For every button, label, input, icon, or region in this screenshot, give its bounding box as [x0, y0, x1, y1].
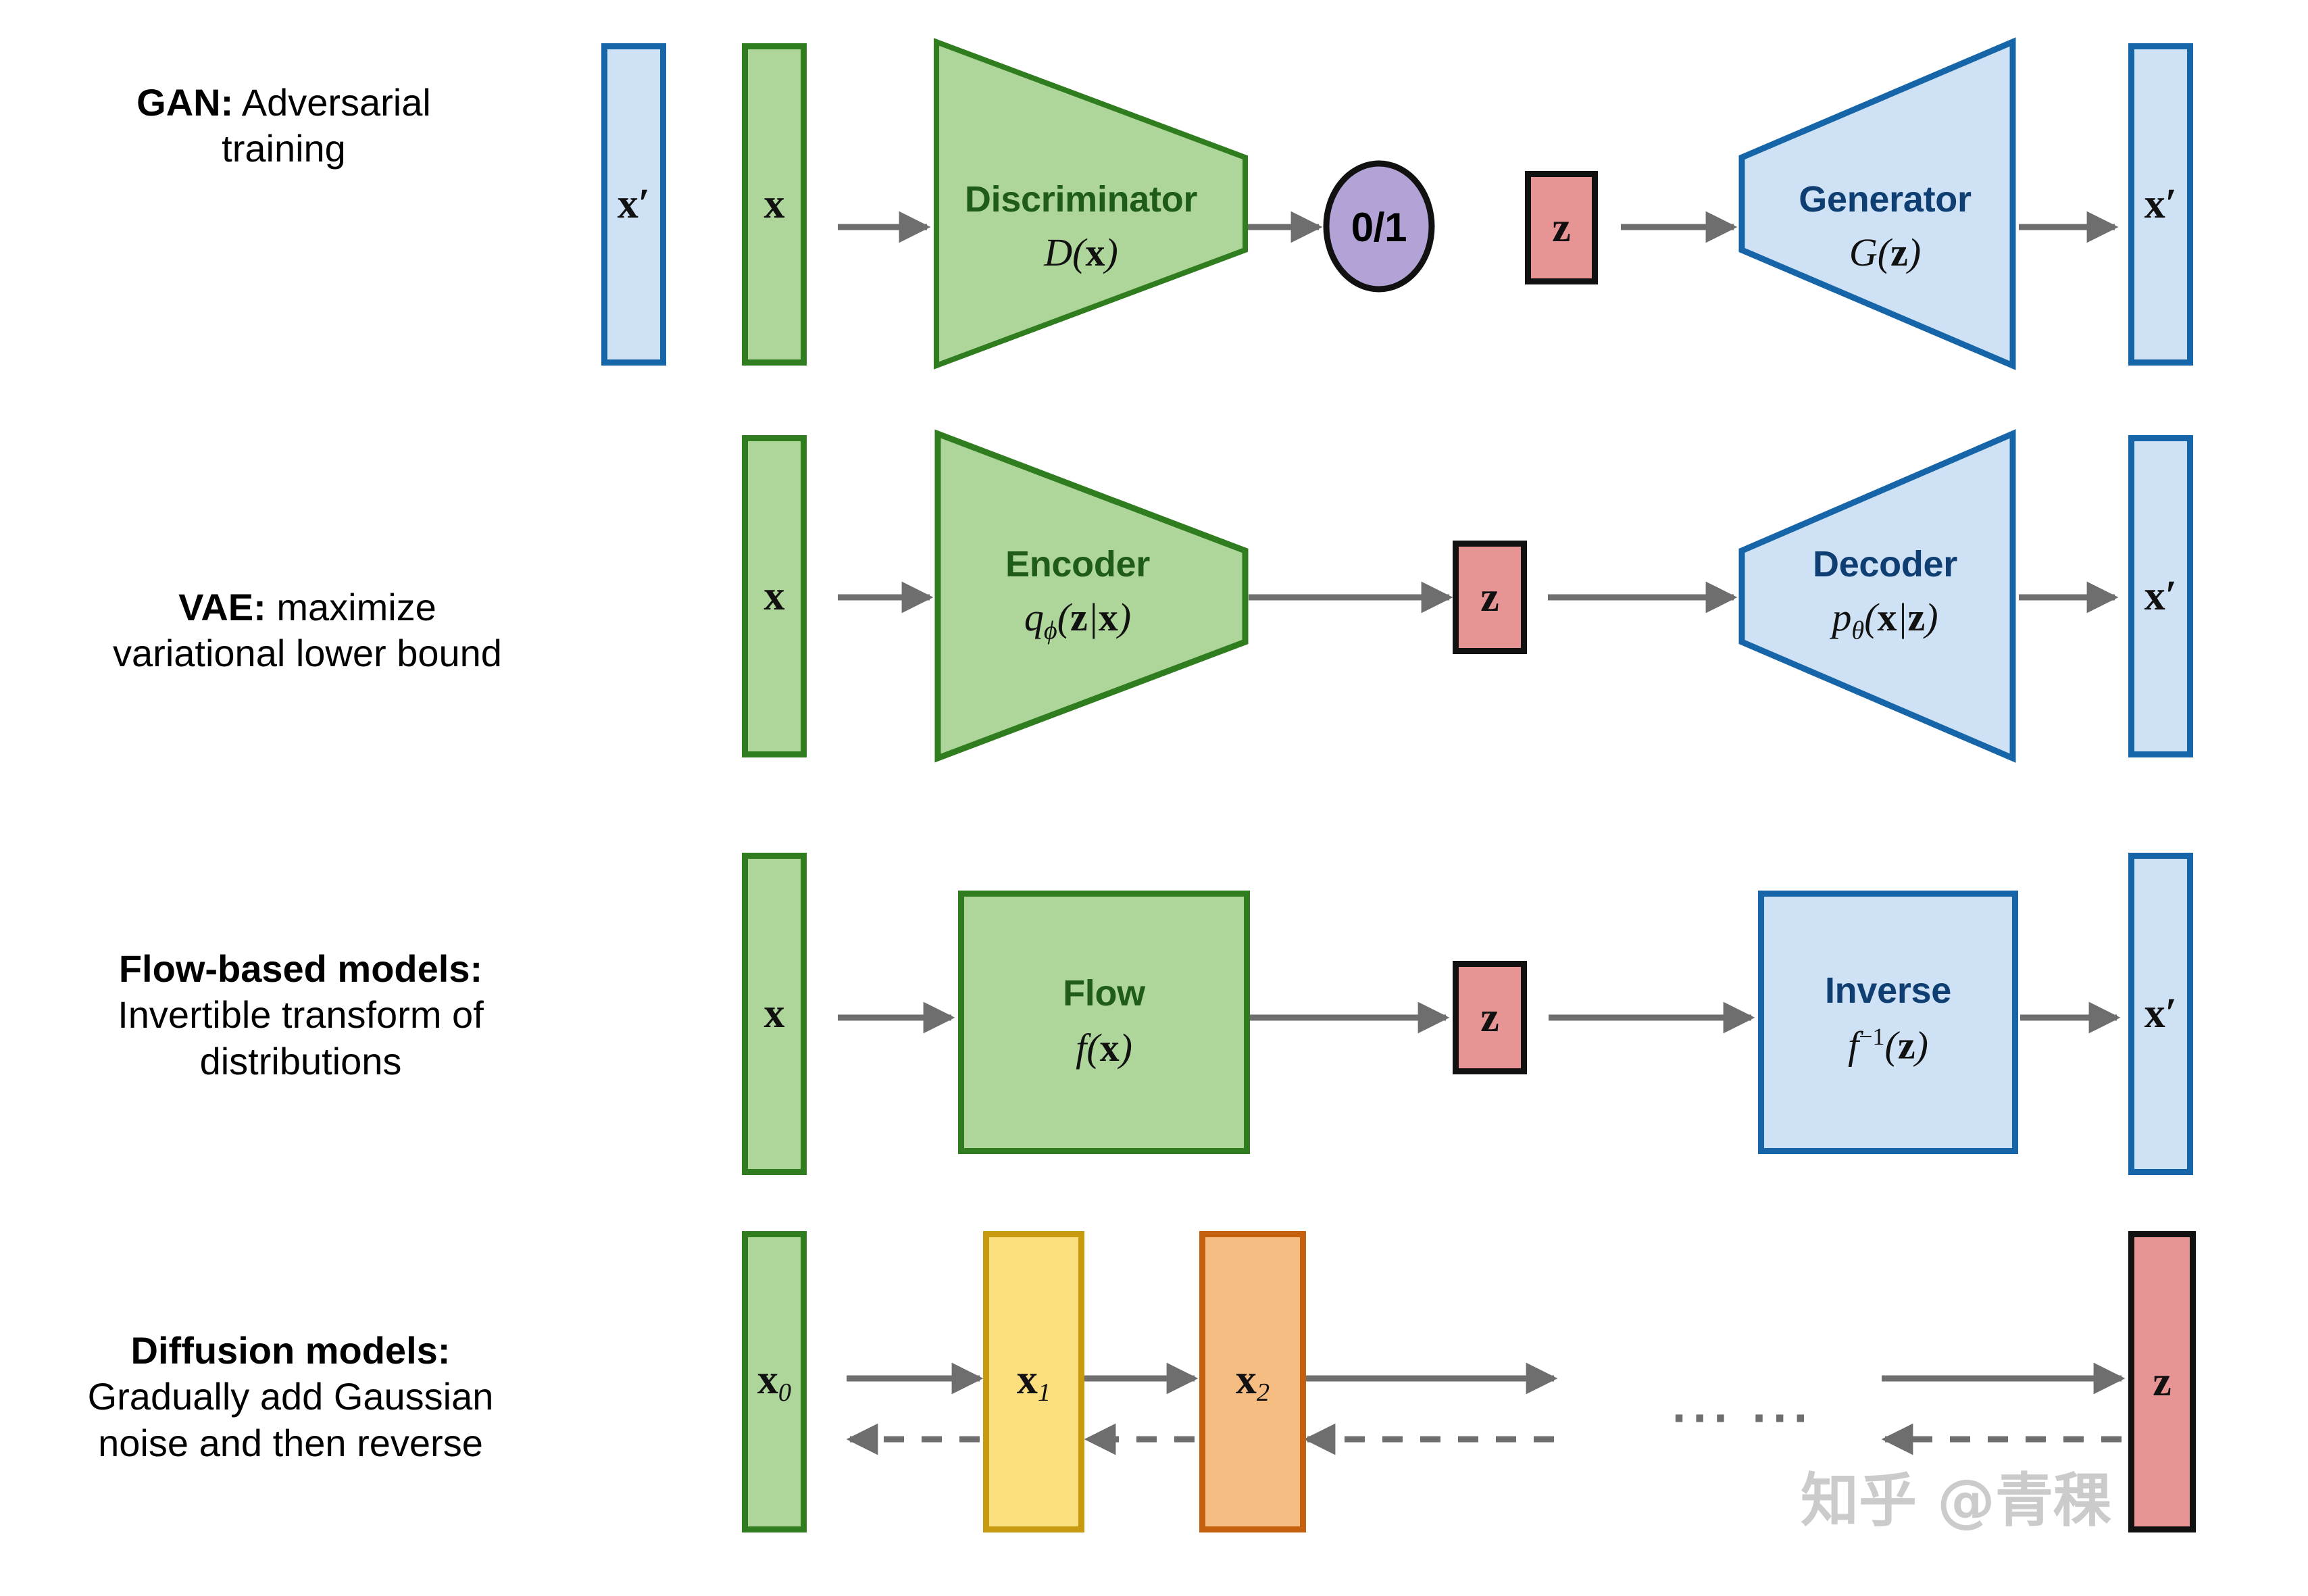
decoder-body[interactable]: [1742, 434, 2013, 758]
flow-transform-box[interactable]: [958, 891, 1250, 1154]
generator-body[interactable]: [1742, 42, 2013, 366]
gan-z-box[interactable]: z: [1525, 171, 1598, 284]
diagram-canvas: GAN: Adversarial training VAE: maximize …: [0, 0, 2308, 1596]
gan-x-input-label: x: [764, 180, 785, 228]
diffusion-x2-label: x2: [1236, 1356, 1270, 1407]
flow-xprime-right-box[interactable]: x′: [2128, 853, 2193, 1175]
vae-z-box[interactable]: z: [1453, 541, 1527, 654]
flow-z-label: z: [1480, 994, 1499, 1042]
decision-ellipse[interactable]: [1326, 164, 1432, 289]
diffusion-x0-label: x0: [757, 1356, 791, 1407]
gan-z-label: z: [1552, 204, 1571, 252]
gan-xprime-left-label: x′: [618, 180, 650, 228]
encoder-body[interactable]: [938, 434, 1245, 758]
diffusion-x1-box[interactable]: x1: [983, 1231, 1084, 1532]
gan-xprime-right-box[interactable]: x′: [2128, 43, 2193, 366]
diffusion-z-label: z: [2153, 1358, 2172, 1406]
diffusion-x2-box[interactable]: x2: [1199, 1231, 1306, 1532]
vae-xprime-right-label: x′: [2144, 572, 2177, 620]
diffusion-x0-box[interactable]: x0: [742, 1231, 807, 1532]
discriminator-body[interactable]: [936, 42, 1245, 366]
vae-z-label: z: [1480, 574, 1499, 622]
diffusion-x1-label: x1: [1017, 1356, 1051, 1407]
vae-xprime-right-box[interactable]: x′: [2128, 435, 2193, 757]
gan-xprime-right-label: x′: [2144, 180, 2177, 228]
flow-x-input-label: x: [764, 990, 785, 1038]
flow-xprime-right-label: x′: [2144, 990, 2177, 1038]
gan-xprime-left-box[interactable]: x′: [601, 43, 666, 366]
watermark: 知乎 @青稞: [1801, 1453, 2111, 1537]
diffusion-z-box[interactable]: z: [2128, 1231, 2196, 1532]
shapes-and-arrows-layer: [0, 0, 2308, 1596]
flow-x-input-box[interactable]: x: [742, 853, 807, 1175]
vae-x-input-label: x: [764, 572, 785, 620]
gan-x-input-box[interactable]: x: [742, 43, 807, 366]
flow-z-box[interactable]: z: [1453, 961, 1527, 1074]
flow-inverse-box[interactable]: [1758, 891, 2018, 1154]
vae-x-input-box[interactable]: x: [742, 435, 807, 757]
